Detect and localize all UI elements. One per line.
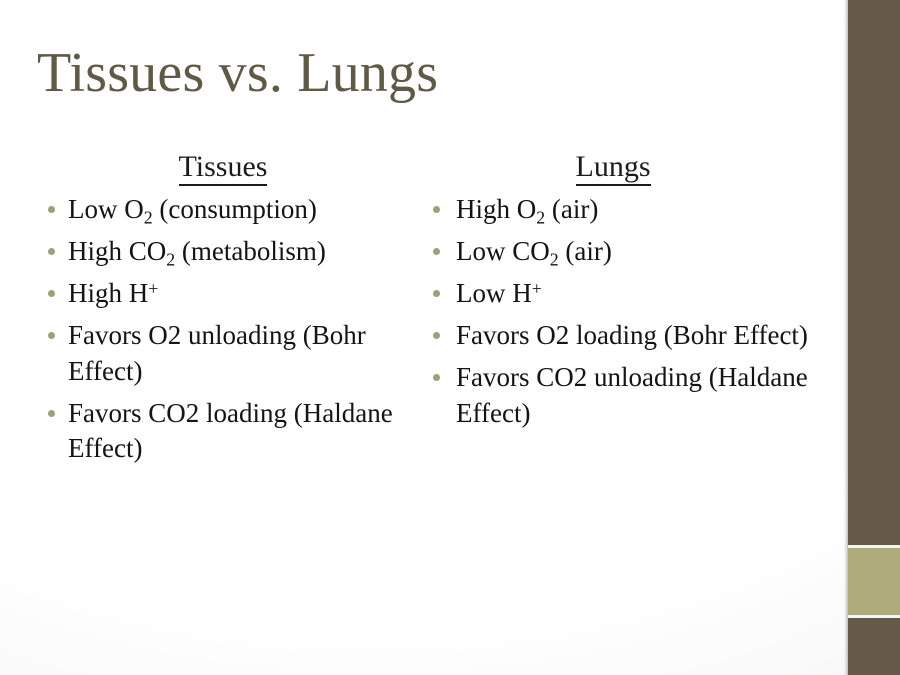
bullet-dot-icon (48, 206, 55, 213)
list-item-text: Low O (68, 194, 144, 224)
list-item-subscript: 2 (144, 208, 153, 228)
list-item-text: Low H (456, 278, 532, 308)
list-item: Favors CO2 unloading (Haldane Effect) (424, 360, 824, 432)
bullet-dot-icon (48, 410, 55, 417)
decorative-sidebar (844, 0, 900, 675)
bullet-dot-icon (433, 206, 440, 213)
bullet-dot-icon (48, 290, 55, 297)
bullet-dot-icon (48, 248, 55, 255)
list-item-subscript: 2 (166, 250, 175, 270)
list-item-text: Low CO (456, 236, 550, 266)
bullet-dot-icon (48, 332, 55, 339)
list-item-text-tail: (air) (559, 236, 612, 266)
list-item-superscript: + (148, 278, 158, 298)
list-item: High H+ (34, 276, 426, 312)
list-item: High CO2 (metabolism) (34, 234, 426, 270)
bullet-list-lungs: High O2 (air) Low CO2 (air) Low H+ Favor… (424, 192, 824, 431)
column-heading-tissues: Tissues (34, 152, 426, 182)
list-item-text: Favors O2 unloading (Bohr Effect) (68, 320, 366, 386)
column-heading-lungs: Lungs (424, 152, 824, 182)
sidebar-band-middle (848, 548, 900, 616)
list-item-subscript: 2 (536, 208, 545, 228)
list-item-text: Favors O2 loading (Bohr Effect) (456, 320, 808, 350)
sidebar-band-bottom (848, 618, 900, 675)
list-item: Favors CO2 loading (Haldane Effect) (34, 396, 426, 468)
bullet-dot-icon (433, 374, 440, 381)
sidebar-band-top (848, 0, 900, 546)
column-heading-tissues-text: Tissues (179, 150, 268, 186)
bullet-list-tissues: Low O2 (consumption) High CO2 (metabolis… (34, 192, 426, 467)
list-item: High O2 (air) (424, 192, 824, 228)
list-item: Low CO2 (air) (424, 234, 824, 270)
list-item-text: Favors CO2 unloading (Haldane Effect) (456, 362, 808, 428)
list-item: Favors O2 loading (Bohr Effect) (424, 318, 824, 354)
list-item-text: High H (68, 278, 148, 308)
list-item-text-tail: (metabolism) (175, 236, 326, 266)
list-item-text: High CO (68, 236, 166, 266)
list-item-text: Favors CO2 loading (Haldane Effect) (68, 398, 393, 464)
bullet-dot-icon (433, 332, 440, 339)
slide-canvas: Tissues vs. Lungs Tissues Low O2 (consum… (0, 0, 900, 675)
list-item: Low H+ (424, 276, 824, 312)
list-item: Favors O2 unloading (Bohr Effect) (34, 318, 426, 390)
list-item-superscript: + (532, 278, 542, 298)
bullet-dot-icon (433, 290, 440, 297)
list-item: Low O2 (consumption) (34, 192, 426, 228)
list-item-text-tail: (consumption) (153, 194, 317, 224)
two-column-body: Tissues Low O2 (consumption) High CO2 (m… (0, 152, 832, 532)
list-item-subscript: 2 (550, 250, 559, 270)
column-tissues: Tissues Low O2 (consumption) High CO2 (m… (34, 152, 426, 473)
list-item-text-tail: (air) (545, 194, 598, 224)
page-title: Tissues vs. Lungs (37, 44, 438, 103)
list-item-text: High O (456, 194, 536, 224)
bullet-dot-icon (433, 248, 440, 255)
column-lungs: Lungs High O2 (air) Low CO2 (air) Low H+… (424, 152, 824, 437)
column-heading-lungs-text: Lungs (576, 150, 651, 186)
